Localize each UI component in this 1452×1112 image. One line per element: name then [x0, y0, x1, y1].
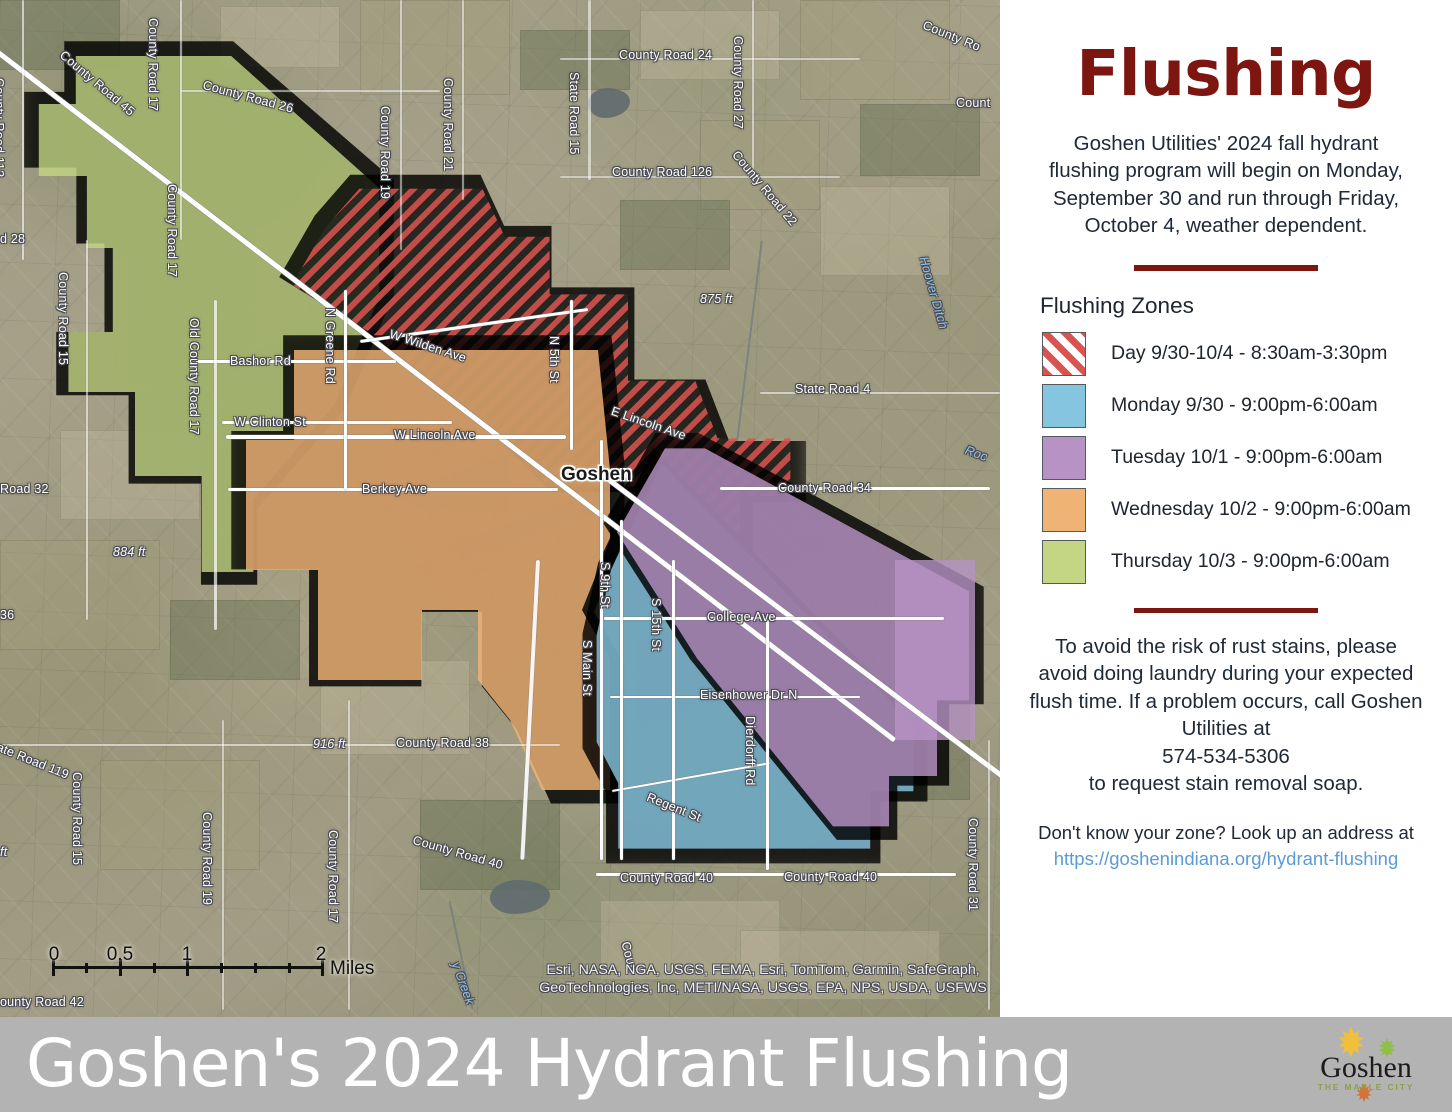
road-cr27 [752, 0, 754, 180]
road-dierdorff [766, 620, 769, 870]
road-cr21 [462, 0, 464, 200]
map-label-6: County Road 17 [165, 184, 179, 277]
legend-title: Flushing Zones [1040, 293, 1438, 319]
road-s9th [620, 520, 623, 860]
terrain-patch [860, 104, 980, 176]
map-label-3: County Road 113 [0, 78, 6, 177]
flushing-map-poster: Goshen County Road 45County Road 17Count… [0, 0, 1452, 1112]
scale-tick-1: 0.5 [107, 944, 133, 966]
road-bashor [196, 360, 396, 363]
map-label-28: County Road 34 [778, 481, 871, 495]
road-n5th [570, 300, 573, 450]
map-label-40: County Road 15 [70, 772, 84, 865]
map-label-10: County Road 24 [619, 48, 712, 62]
lake [588, 88, 630, 118]
map-label-38: 36 [0, 608, 14, 622]
page-title: Flushing [1014, 42, 1438, 105]
rust-note-text: To avoid the risk of rust stains, please… [1029, 635, 1422, 740]
road-main-st [600, 440, 603, 860]
map-label-9: County Road 21 [441, 78, 455, 171]
legend-list: Day 9/30-10/4 - 8:30am-3:30pmMonday 9/30… [1042, 328, 1438, 588]
map-label-41: County Road 17 [326, 830, 340, 923]
scale-tick-3: 2 [316, 944, 327, 966]
legend-label-0: Day 9/30-10/4 - 8:30am-3:30pm [1111, 342, 1387, 365]
map-label-25: W Lincoln Ave [394, 428, 476, 442]
map-label-13: State Road 15 [567, 72, 581, 155]
lookup-note: Don't know your zone? Look up an address… [1014, 820, 1438, 872]
zone-fill [895, 560, 975, 740]
map-label-42: County Road 19 [200, 812, 214, 905]
legend-swatch-3 [1042, 488, 1086, 532]
divider-top [1134, 265, 1318, 271]
map-label-53: ounty Road 42 [0, 995, 84, 1009]
legend-row-3[interactable]: Wednesday 10/2 - 9:00pm-6:00am [1042, 484, 1438, 536]
logo-tagline: THE MAPLE CITY [1302, 1082, 1430, 1092]
scale-tick-2: 1 [182, 944, 193, 966]
map-label-49: County Road 40 [784, 870, 877, 884]
footer-title: Goshen's 2024 Hydrant Flushing [26, 1031, 1072, 1097]
scale-unit: Miles [330, 958, 374, 980]
logo-wordmark: Goshen [1302, 1053, 1430, 1083]
legend-label-4: Thursday 10/3 - 9:00pm-6:00am [1111, 550, 1390, 573]
map-label-7: Old County Road 17 [187, 318, 201, 435]
intro-text: Goshen Utilities' 2024 fall hydrant flus… [1014, 130, 1438, 239]
map-label-43: County Road 38 [396, 736, 489, 750]
map-label-31: 884 ft [113, 545, 145, 559]
map-label-46: ft [0, 845, 7, 859]
map-label-12: County Road 126 [612, 165, 712, 179]
map-label-50: County Road 31 [966, 818, 980, 911]
rust-note-end: to request stain removal soap. [1089, 772, 1364, 795]
scale-tick-0: 0 [49, 944, 60, 966]
map-label-37: Dierdorff Rd [743, 716, 757, 786]
legend-swatch-0 [1042, 332, 1086, 376]
map-label-48: County Road 40 [620, 871, 713, 885]
zone-tuesday-parcel[interactable] [895, 560, 975, 740]
legend-swatch-4 [1042, 540, 1086, 584]
map-label-11: County Road 27 [731, 36, 745, 129]
map-label-35: College Ave [707, 610, 776, 624]
legend-row-1[interactable]: Monday 9/30 - 9:00pm-6:00am [1042, 380, 1438, 432]
terrain-patch [640, 10, 780, 80]
legend-swatch-1 [1042, 384, 1086, 428]
map-label-45: 916 ft [313, 737, 345, 751]
city-label-goshen: Goshen [561, 464, 632, 486]
lake [490, 880, 550, 914]
terrain-patch [800, 0, 950, 100]
scale-line [52, 966, 324, 969]
map-label-52: y Creek [449, 960, 477, 1007]
map-canvas[interactable]: Goshen County Road 45County Road 17Count… [0, 0, 1000, 1017]
road-sr15-n [588, 0, 591, 180]
lookup-prompt: Don't know your zone? Look up an address… [1038, 822, 1414, 843]
map-label-8: County Road 19 [378, 106, 392, 199]
map-label-18: 875 ft [700, 292, 732, 306]
map-label-21: N Greene Rd [323, 308, 337, 384]
legend-row-2[interactable]: Tuesday 10/1 - 9:00pm-6:00am [1042, 432, 1438, 484]
map-label-33: S 15th St [649, 598, 663, 651]
map-attribution: Esri, NASA, NGA, USGS, FEMA, Esri, TomTo… [533, 961, 993, 997]
legend-label-2: Tuesday 10/1 - 9:00pm-6:00am [1111, 446, 1382, 469]
road-oldcr17 [214, 300, 217, 630]
map-label-23: State Road 4 [795, 382, 870, 396]
lookup-link[interactable]: https://goshenindiana.org/hydrant-flushi… [1054, 848, 1399, 869]
legend-row-4[interactable]: Thursday 10/3 - 9:00pm-6:00am [1042, 536, 1438, 588]
footer-banner: Goshen's 2024 Hydrant Flushing Goshen TH… [0, 1017, 1452, 1112]
legend-label-3: Wednesday 10/2 - 9:00pm-6:00am [1111, 498, 1411, 521]
map-label-16: Count [956, 96, 990, 110]
map-label-39: ate Road 119 [0, 740, 71, 782]
map-label-22: N 5th St [547, 336, 561, 383]
map-label-19: Bashor Rd [230, 354, 291, 368]
goshen-logo: Goshen THE MAPLE CITY [1298, 1025, 1434, 1105]
map-label-27: Berkey Ave [362, 482, 427, 496]
road-greene [344, 290, 347, 490]
legend-swatch-2 [1042, 436, 1086, 480]
legend-label-1: Monday 9/30 - 9:00pm-6:00am [1111, 394, 1378, 417]
map-label-4: d 28 [0, 232, 25, 246]
legend-row-0[interactable]: Day 9/30-10/4 - 8:30am-3:30pm [1042, 328, 1438, 380]
map-label-5: County Road 15 [56, 272, 70, 365]
map-label-1: County Road 17 [146, 18, 160, 111]
scale-bar: 0 0.5 1 2 Miles [52, 944, 324, 984]
map-label-34: S Main St [580, 640, 594, 696]
road-cr19-n [400, 0, 402, 250]
map-label-24: W Clinton St [234, 415, 306, 429]
map-label-36: Eisenhower Dr N [700, 688, 797, 702]
map-label-32: S 9th St [598, 562, 612, 608]
rust-note: To avoid the risk of rust stains, please… [1014, 633, 1438, 798]
info-panel: Flushing Goshen Utilities' 2024 fall hyd… [1000, 0, 1452, 1017]
utilities-phone: 574-534-5306 [1162, 745, 1290, 768]
divider-bottom [1134, 608, 1318, 614]
map-label-30: Road 32 [0, 482, 49, 496]
